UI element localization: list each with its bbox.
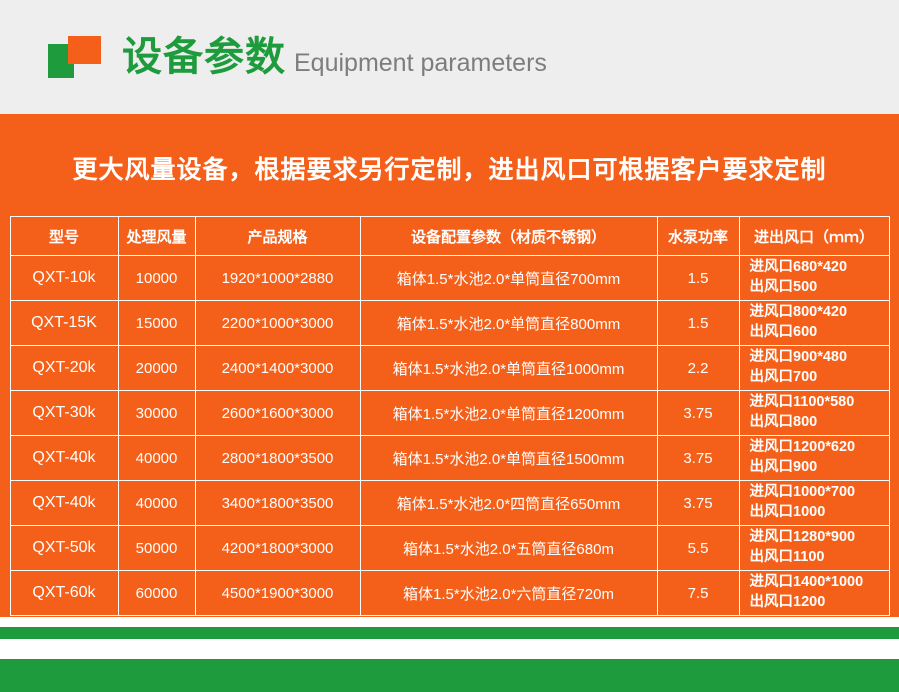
- cell-pump-power: 3.75: [657, 481, 739, 526]
- cell-config: 箱体1.5*水池2.0*单筒直径700mm: [360, 256, 657, 301]
- cell-model: QXT-20k: [10, 346, 118, 391]
- column-header-pump-power: 水泵功率: [657, 217, 739, 256]
- page-header: 设备参数 Equipment parameters: [0, 0, 899, 114]
- cell-product-spec: 2600*1600*3000: [195, 391, 360, 436]
- table-row: QXT-15K 15000 2200*1000*3000 箱体1.5*水池2.0…: [10, 301, 889, 346]
- table-row: QXT-20k 20000 2400*1400*3000 箱体1.5*水池2.0…: [10, 346, 889, 391]
- cell-vent: 进风口1000*700 出风口1000: [739, 481, 889, 526]
- cell-airflow: 20000: [118, 346, 195, 391]
- spec-table: 型号 处理风量 产品规格 设备配置参数（材质不锈钢） 水泵功率 进出风口（ｍｍ）…: [10, 216, 890, 616]
- vent-outlet: 出风口900: [750, 458, 887, 478]
- cell-pump-power: 7.5: [657, 571, 739, 616]
- cell-model: QXT-15K: [10, 301, 118, 346]
- vent-outlet: 出风口800: [750, 413, 887, 433]
- vent-outlet: 出风口1000: [750, 503, 887, 523]
- footer-bar-thin: [0, 627, 899, 639]
- cell-vent: 进风口1400*1000 出风口1200: [739, 571, 889, 616]
- cell-vent: 进风口1100*580 出风口800: [739, 391, 889, 436]
- cell-config: 箱体1.5*水池2.0*单筒直径800mm: [360, 301, 657, 346]
- table-row: QXT-50k 50000 4200*1800*3000 箱体1.5*水池2.0…: [10, 526, 889, 571]
- vent-inlet: 进风口1200*620: [750, 438, 887, 458]
- cell-vent: 进风口680*420 出风口500: [739, 256, 889, 301]
- table-row: QXT-10k 10000 1920*1000*2880 箱体1.5*水池2.0…: [10, 256, 889, 301]
- column-header-product-spec: 产品规格: [195, 217, 360, 256]
- column-header-config: 设备配置参数（材质不锈钢）: [360, 217, 657, 256]
- cell-product-spec: 3400*1800*3500: [195, 481, 360, 526]
- spec-panel: 更大风量设备，根据要求另行定制，进出风口可根据客户要求定制 型号 处理风量 产品…: [0, 114, 899, 617]
- vent-outlet: 出风口600: [750, 323, 887, 343]
- cell-pump-power: 1.5: [657, 256, 739, 301]
- logo-orange-square: [68, 36, 101, 64]
- cell-pump-power: 3.75: [657, 436, 739, 481]
- vent-inlet: 进风口800*420: [750, 303, 887, 323]
- cell-vent: 进风口900*480 出风口700: [739, 346, 889, 391]
- footer-bar-thick: [0, 659, 899, 692]
- column-header-model: 型号: [10, 217, 118, 256]
- cell-product-spec: 4500*1900*3000: [195, 571, 360, 616]
- page-root: 设备参数 Equipment parameters 更大风量设备，根据要求另行定…: [0, 0, 899, 692]
- cell-pump-power: 2.2: [657, 346, 739, 391]
- banner-text: 更大风量设备，根据要求另行定制，进出风口可根据客户要求定制: [0, 114, 899, 216]
- cell-model: QXT-30k: [10, 391, 118, 436]
- cell-model: QXT-60k: [10, 571, 118, 616]
- cell-model: QXT-40k: [10, 436, 118, 481]
- vent-inlet: 进风口1400*1000: [750, 573, 887, 593]
- column-header-vent: 进出风口（ｍｍ）: [739, 217, 889, 256]
- cell-airflow: 60000: [118, 571, 195, 616]
- vent-outlet: 出风口1200: [750, 593, 887, 613]
- page-title: 设备参数: [122, 37, 286, 77]
- cell-airflow: 40000: [118, 481, 195, 526]
- logo-icon: [48, 36, 104, 78]
- vent-outlet: 出风口1100: [750, 548, 887, 568]
- vent-inlet: 进风口680*420: [750, 258, 887, 278]
- cell-product-spec: 2200*1000*3000: [195, 301, 360, 346]
- cell-config: 箱体1.5*水池2.0*四筒直径650mm: [360, 481, 657, 526]
- vent-outlet: 出风口500: [750, 278, 887, 298]
- vent-inlet: 进风口900*480: [750, 348, 887, 368]
- cell-vent: 进风口1200*620 出风口900: [739, 436, 889, 481]
- cell-pump-power: 5.5: [657, 526, 739, 571]
- cell-product-spec: 2400*1400*3000: [195, 346, 360, 391]
- cell-vent: 进风口800*420 出风口600: [739, 301, 889, 346]
- vent-inlet: 进风口1000*700: [750, 483, 887, 503]
- vent-outlet: 出风口700: [750, 368, 887, 388]
- cell-config: 箱体1.5*水池2.0*单筒直径1500mm: [360, 436, 657, 481]
- cell-config: 箱体1.5*水池2.0*六筒直径720m: [360, 571, 657, 616]
- column-header-airflow: 处理风量: [118, 217, 195, 256]
- cell-config: 箱体1.5*水池2.0*五筒直径680m: [360, 526, 657, 571]
- cell-model: QXT-50k: [10, 526, 118, 571]
- page-footer: [0, 617, 899, 692]
- page-subtitle: Equipment parameters: [294, 51, 547, 76]
- cell-product-spec: 2800*1800*3500: [195, 436, 360, 481]
- cell-config: 箱体1.5*水池2.0*单筒直径1200mm: [360, 391, 657, 436]
- cell-airflow: 50000: [118, 526, 195, 571]
- cell-model: QXT-10k: [10, 256, 118, 301]
- cell-config: 箱体1.5*水池2.0*单筒直径1000mm: [360, 346, 657, 391]
- cell-product-spec: 1920*1000*2880: [195, 256, 360, 301]
- cell-pump-power: 3.75: [657, 391, 739, 436]
- cell-product-spec: 4200*1800*3000: [195, 526, 360, 571]
- vent-inlet: 进风口1280*900: [750, 528, 887, 548]
- table-row: QXT-40k 40000 2800*1800*3500 箱体1.5*水池2.0…: [10, 436, 889, 481]
- cell-airflow: 40000: [118, 436, 195, 481]
- vent-inlet: 进风口1100*580: [750, 393, 887, 413]
- table-header-row: 型号 处理风量 产品规格 设备配置参数（材质不锈钢） 水泵功率 进出风口（ｍｍ）: [10, 217, 889, 256]
- cell-vent: 进风口1280*900 出风口1100: [739, 526, 889, 571]
- table-row: QXT-60k 60000 4500*1900*3000 箱体1.5*水池2.0…: [10, 571, 889, 616]
- table-row: QXT-30k 30000 2600*1600*3000 箱体1.5*水池2.0…: [10, 391, 889, 436]
- cell-airflow: 10000: [118, 256, 195, 301]
- cell-airflow: 15000: [118, 301, 195, 346]
- cell-pump-power: 1.5: [657, 301, 739, 346]
- cell-airflow: 30000: [118, 391, 195, 436]
- table-row: QXT-40k 40000 3400*1800*3500 箱体1.5*水池2.0…: [10, 481, 889, 526]
- cell-model: QXT-40k: [10, 481, 118, 526]
